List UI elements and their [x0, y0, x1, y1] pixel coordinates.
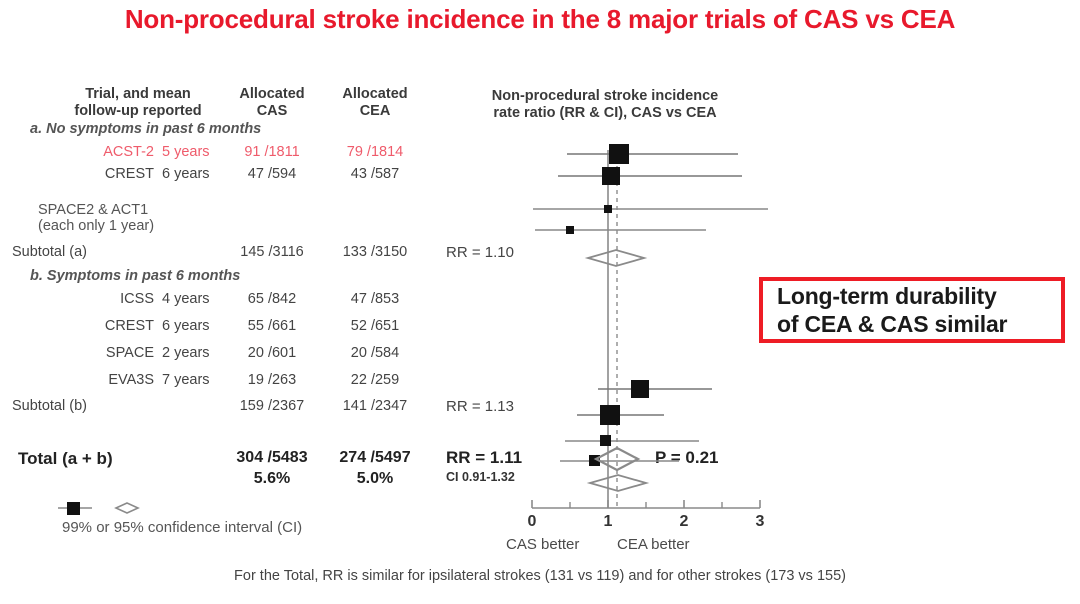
column-header-cea-line1: Allocated	[325, 86, 425, 103]
table-row: SPACE2 & ACT1 (each only 1 year)	[38, 202, 238, 234]
row-cas-events: 47 /594	[222, 166, 322, 182]
forest-subtotal-a-diamond	[588, 250, 644, 266]
row-cea-events: 20 /584	[325, 345, 425, 361]
forest-row-space2	[533, 205, 768, 213]
axis-tick-1: 1	[593, 513, 623, 531]
row-trial-name: CREST	[38, 318, 154, 334]
table-row: CREST 6 years 47 /594 43 /587	[0, 166, 440, 186]
forest-row-acst2	[567, 144, 738, 164]
row-cas-events: 65 /842	[222, 291, 322, 307]
forest-row-crest-a	[558, 167, 742, 185]
row-cea-events: 22 /259	[325, 372, 425, 388]
forest-row-icss	[598, 380, 712, 398]
table-row: ICSS 4 years 65 /842 47 /853	[0, 291, 440, 311]
total-label: Total (a + b)	[18, 449, 208, 469]
legend-caption: 99% or 95% confidence interval (CI)	[62, 519, 302, 536]
subtotal-label: Subtotal (a)	[12, 244, 192, 260]
row-trial-name: CREST	[38, 166, 154, 182]
subtotal-label: Subtotal (b)	[12, 398, 192, 414]
row-cas-events: 91 /1811	[222, 144, 322, 160]
subtotal-cea-events: 141 /2347	[325, 398, 425, 414]
axis-tick-0: 0	[517, 513, 547, 531]
section-header-a: a. No symptoms in past 6 months	[30, 121, 261, 137]
forest-row-space	[565, 435, 699, 446]
row-followup: (each only 1 year)	[38, 218, 238, 234]
forest-subtotal-b-diamond	[590, 475, 646, 491]
footnote: For the Total, RR is similar for ipsilat…	[0, 568, 1080, 584]
page-title: Non-procedural stroke incidence in the 8…	[0, 4, 1080, 35]
forest-row-crest-b	[577, 405, 664, 425]
subtotal-b-rr-label: RR = 1.13	[446, 398, 514, 415]
row-cea-events: 43 /587	[325, 166, 425, 182]
forest-total-diamond	[596, 448, 638, 470]
plot-x-axis	[532, 500, 760, 508]
total-cas-percent: 5.6%	[222, 470, 322, 488]
total-ci-label: CI 0.91-1.32	[446, 470, 515, 484]
row-cas-events: 55 /661	[222, 318, 322, 334]
column-header-cas-line2: CAS	[222, 103, 322, 120]
subtotal-row-b: Subtotal (b) 159 /2367 141 /2347	[0, 398, 440, 418]
section-header-b: b. Symptoms in past 6 months	[30, 268, 240, 284]
column-header-trial-line1: Trial, and mean	[38, 86, 238, 103]
callout-line2: of CEA & CAS similar	[777, 310, 1007, 338]
axis-label-cea-better: CEA better	[617, 536, 690, 553]
row-cea-events: 79 /1814	[325, 144, 425, 160]
row-trial-name: SPACE	[38, 345, 154, 361]
column-header-cea: Allocated CEA	[325, 86, 425, 120]
column-header-cas: Allocated CAS	[222, 86, 322, 120]
subtotal-cas-events: 159 /2367	[222, 398, 322, 414]
subtotal-row-a: Subtotal (a) 145 /3116 133 /3150	[0, 244, 440, 264]
legend-square-icon	[58, 502, 92, 515]
column-header-trial: Trial, and mean follow-up reported	[38, 86, 238, 120]
row-cas-events: 20 /601	[222, 345, 322, 361]
total-p-value: P = 0.21	[655, 448, 719, 468]
column-header-plot-line2: rate ratio (RR & CI), CAS vs CEA	[440, 105, 770, 122]
column-header-plot: Non-procedural stroke incidence rate rat…	[440, 88, 770, 122]
column-header-cea-line2: CEA	[325, 103, 425, 120]
column-header-cas-line1: Allocated	[222, 86, 322, 103]
table-row: CREST 6 years 55 /661 52 /651	[0, 318, 440, 338]
table-row: SPACE 2 years 20 /601 20 /584	[0, 345, 440, 365]
forest-row-act1	[535, 226, 706, 234]
callout-line1: Long-term durability	[777, 282, 1007, 310]
table-row: ACST-2 5 years 91 /1811 79 /1814	[0, 144, 440, 164]
axis-label-cas-better: CAS better	[506, 536, 579, 553]
total-cea-percent: 5.0%	[325, 470, 425, 488]
row-trial-name: EVA3S	[38, 372, 154, 388]
row-cas-events: 19 /263	[222, 372, 322, 388]
subtotal-cas-events: 145 /3116	[222, 244, 322, 260]
column-header-plot-line1: Non-procedural stroke incidence	[440, 88, 770, 105]
subtotal-cea-events: 133 /3150	[325, 244, 425, 260]
subtotal-a-rr-label: RR = 1.10	[446, 244, 514, 261]
callout-text: Long-term durability of CEA & CAS simila…	[777, 282, 1007, 338]
row-cea-events: 52 /651	[325, 318, 425, 334]
legend-diamond-icon	[116, 503, 138, 513]
row-trial-name: ACST-2	[38, 144, 154, 160]
total-rr-label: RR = 1.11	[446, 448, 522, 468]
axis-tick-2: 2	[669, 513, 699, 531]
total-row: Total (a + b) 304 /5483 274 /5497	[0, 449, 440, 469]
row-trial-name: ICSS	[38, 291, 154, 307]
callout-box: Long-term durability of CEA & CAS simila…	[759, 277, 1065, 343]
total-cas-events: 304 /5483	[222, 449, 322, 467]
row-cea-events: 47 /853	[325, 291, 425, 307]
table-row: EVA3S 7 years 19 /263 22 /259	[0, 372, 440, 392]
total-cea-events: 274 /5497	[325, 449, 425, 467]
axis-tick-3: 3	[745, 513, 775, 531]
column-header-trial-line2: follow-up reported	[38, 103, 238, 120]
row-trial-name: SPACE2 & ACT1	[38, 202, 238, 218]
